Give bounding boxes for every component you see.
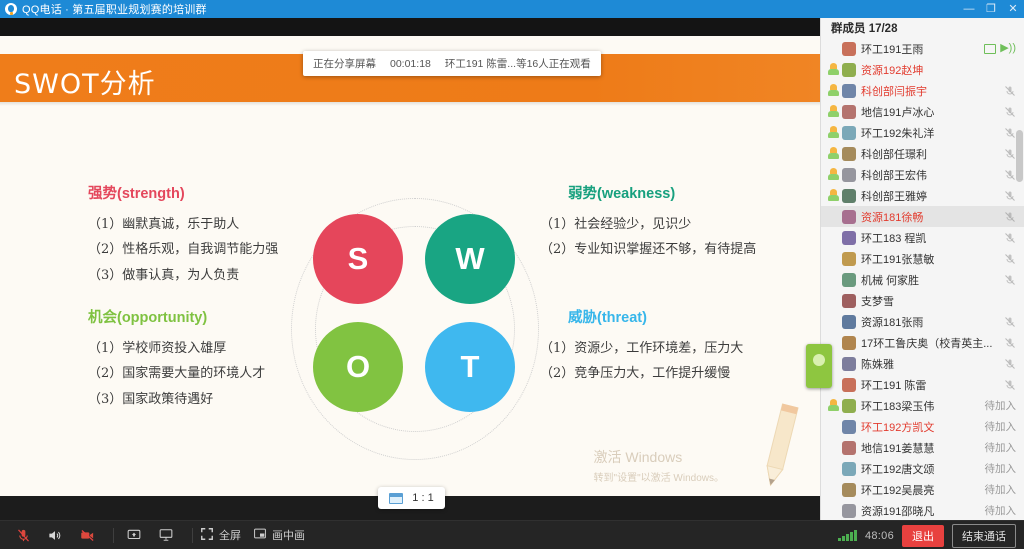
exit-button[interactable]: 退出 bbox=[902, 525, 944, 547]
member-row[interactable]: 支梦雪 bbox=[821, 290, 1024, 311]
member-status bbox=[1004, 227, 1016, 248]
member-status bbox=[1004, 269, 1016, 290]
watermark-line-2: 转到"设置"以激活 Windows。 bbox=[594, 469, 724, 484]
avatar bbox=[842, 126, 856, 140]
member-row[interactable]: 科创部王宏伟 bbox=[821, 164, 1024, 185]
member-row[interactable]: 环工183 程凯 bbox=[821, 227, 1024, 248]
member-status bbox=[1004, 101, 1016, 122]
screen-sharing-icon bbox=[984, 44, 996, 54]
window-title: QQ电话 · 第五届职业规划赛的培训群 bbox=[22, 1, 207, 17]
member-row[interactable]: 地信191姜慧慧待加入 bbox=[821, 437, 1024, 458]
member-status bbox=[1004, 80, 1016, 101]
member-status: 待加入 bbox=[985, 416, 1017, 437]
member-name: 资源192赵坤 bbox=[861, 62, 923, 78]
quadrant-opportunity-item-3: （3）国家政策待遇好 bbox=[88, 387, 265, 412]
member-row[interactable]: 资源181张雨 bbox=[821, 311, 1024, 332]
zoom-ratio-label: 1 : 1 bbox=[412, 492, 433, 504]
close-button[interactable]: ✕ bbox=[1002, 0, 1024, 18]
member-status: ▶)) bbox=[984, 38, 1016, 59]
member-row[interactable]: 资源181徐畅 bbox=[821, 206, 1024, 227]
share-viewers-label: 环工191 陈雷...等16人正在观看 bbox=[445, 56, 591, 71]
slide-body: S W O T 强势(strength) （1）幽默真诚，乐于助人 （2）性格乐… bbox=[0, 106, 820, 496]
windows-activation-watermark: 激活 Windows 转到"设置"以激活 Windows。 bbox=[594, 447, 724, 484]
member-badge-spacer bbox=[827, 231, 840, 244]
window-controls: — ❐ ✕ bbox=[958, 0, 1024, 18]
host-badge-icon bbox=[827, 63, 840, 76]
member-status bbox=[1004, 374, 1016, 395]
host-badge-icon bbox=[827, 399, 840, 412]
member-row[interactable]: 陈姝雅 bbox=[821, 353, 1024, 374]
swot-circle-weakness: W bbox=[425, 214, 515, 304]
member-name: 环工191张慧敏 bbox=[861, 251, 934, 267]
member-name: 机械 何家胜 bbox=[861, 272, 919, 288]
avatar bbox=[842, 357, 856, 371]
avatar bbox=[842, 483, 856, 497]
member-name: 环工192朱礼洋 bbox=[861, 125, 934, 141]
zoom-ratio-control[interactable]: 1 : 1 bbox=[378, 487, 445, 509]
call-toolbar: 全屏 画中画 48:06 退出 结束通话 bbox=[0, 520, 1024, 549]
member-name: 环工191 陈雷 bbox=[861, 377, 926, 393]
avatar bbox=[842, 42, 856, 56]
member-row[interactable]: 科创部任璟利 bbox=[821, 143, 1024, 164]
avatar bbox=[842, 189, 856, 203]
member-badge-spacer bbox=[827, 42, 840, 55]
member-badge-spacer bbox=[827, 462, 840, 475]
member-row[interactable]: 科创部王雅婷 bbox=[821, 185, 1024, 206]
microphone-muted-icon[interactable] bbox=[1004, 211, 1016, 223]
swot-circle-opportunity: O bbox=[313, 322, 403, 412]
microphone-muted-icon[interactable] bbox=[1004, 358, 1016, 370]
quadrant-opportunity-item-2: （2）国家需要大量的环境人才 bbox=[88, 361, 265, 386]
member-row[interactable]: 环工192方凯文待加入 bbox=[821, 416, 1024, 437]
avatar bbox=[842, 147, 856, 161]
member-list-scrollbar[interactable] bbox=[1016, 130, 1023, 182]
quadrant-strength-item-3: （3）做事认真，为人负责 bbox=[88, 263, 278, 288]
member-name: 资源181张雨 bbox=[861, 314, 923, 330]
member-badge-spacer bbox=[827, 420, 840, 433]
member-row[interactable]: 17环工鲁庆奥（校青英主... bbox=[821, 332, 1024, 353]
toolbar-divider-1 bbox=[113, 528, 114, 543]
share-screen-icon[interactable] bbox=[121, 524, 147, 546]
quadrant-opportunity: 机会(opportunity) （1）学校师资投入雄厚 （2）国家需要大量的环境… bbox=[88, 306, 265, 412]
microphone-muted-icon[interactable] bbox=[1004, 274, 1016, 286]
avatar bbox=[842, 252, 856, 266]
avatar bbox=[842, 84, 856, 98]
avatar bbox=[842, 273, 856, 287]
microphone-muted-icon[interactable] bbox=[1004, 253, 1016, 265]
member-name: 地信191卢冰心 bbox=[861, 104, 934, 120]
member-status bbox=[1004, 206, 1016, 227]
minimize-button[interactable]: — bbox=[958, 0, 980, 18]
member-status bbox=[1004, 122, 1016, 143]
member-name: 科创部任璟利 bbox=[861, 146, 927, 162]
watermark-line-1: 激活 Windows bbox=[594, 447, 724, 467]
avatar bbox=[842, 294, 856, 308]
member-name: 环工183 程凯 bbox=[861, 230, 926, 246]
restore-button[interactable]: ❐ bbox=[980, 0, 1002, 18]
toolbar-right-group: 48:06 退出 结束通话 bbox=[838, 521, 1016, 549]
signal-bars-icon bbox=[838, 530, 857, 541]
microphone-muted-icon[interactable] bbox=[1004, 190, 1016, 202]
avatar bbox=[842, 504, 856, 518]
microphone-muted-icon[interactable] bbox=[1004, 85, 1016, 97]
member-name: 资源181徐畅 bbox=[861, 209, 923, 225]
member-name: 地信191姜慧慧 bbox=[861, 440, 934, 456]
quadrant-threat-item-2: （2）竞争压力大，工作提升缓慢 bbox=[540, 361, 743, 386]
member-name: 科创部王雅婷 bbox=[861, 188, 927, 204]
camera-muted-icon[interactable] bbox=[74, 524, 100, 546]
quadrant-strength: 强势(strength) （1）幽默真诚，乐于助人 （2）性格乐观，自我调节能力… bbox=[88, 182, 278, 288]
microphone-muted-icon[interactable] bbox=[1004, 169, 1016, 181]
quadrant-opportunity-item-1: （1）学校师资投入雄厚 bbox=[88, 336, 265, 361]
share-elapsed-time: 00:01:18 bbox=[390, 58, 431, 70]
pip-label: 画中画 bbox=[272, 527, 305, 543]
picture-in-picture-button[interactable]: 画中画 bbox=[253, 527, 305, 543]
quadrant-strength-item-1: （1）幽默真诚，乐于助人 bbox=[88, 212, 278, 237]
stage-top-letterbox bbox=[0, 18, 820, 36]
swot-circle-threat: T bbox=[425, 322, 515, 412]
member-name: 17环工鲁庆奥（校青英主... bbox=[861, 335, 992, 351]
fullscreen-button[interactable]: 全屏 bbox=[200, 527, 241, 544]
member-name: 环工192唐文颂 bbox=[861, 461, 934, 477]
quadrant-threat-heading: 威胁(threat) bbox=[568, 306, 743, 327]
member-badge-spacer bbox=[827, 504, 840, 517]
member-status bbox=[1004, 332, 1016, 353]
member-name: 环工192方凯文 bbox=[861, 419, 934, 435]
member-name: 科创部闫振宇 bbox=[861, 83, 927, 99]
call-duration: 48:06 bbox=[865, 530, 894, 542]
avatar bbox=[842, 231, 856, 245]
member-name: 陈姝雅 bbox=[861, 356, 894, 372]
fullscreen-icon bbox=[200, 527, 214, 544]
microphone-muted-icon[interactable] bbox=[10, 524, 36, 546]
speaker-icon[interactable] bbox=[42, 524, 68, 546]
member-name: 资源191邵晓凡 bbox=[861, 503, 934, 519]
member-status: 待加入 bbox=[985, 437, 1017, 458]
pencil-icon bbox=[752, 401, 806, 493]
toolbar-divider-2 bbox=[192, 528, 193, 543]
member-status: 待加入 bbox=[985, 500, 1017, 520]
member-row[interactable]: 环工191王雨▶)) bbox=[821, 38, 1024, 59]
member-row[interactable]: 资源192赵坤 bbox=[821, 59, 1024, 80]
member-row[interactable]: 机械 何家胜 bbox=[821, 269, 1024, 290]
window-title-bar: QQ电话 · 第五届职业规划赛的培训群 — ❐ ✕ bbox=[0, 0, 1024, 18]
member-name: 环工192吴晨亮 bbox=[861, 482, 934, 498]
member-status bbox=[1004, 185, 1016, 206]
quadrant-strength-item-2: （2）性格乐观，自我调节能力强 bbox=[88, 237, 278, 262]
member-status: 待加入 bbox=[985, 395, 1017, 416]
qq-logo-icon bbox=[5, 3, 17, 15]
member-row[interactable]: 环工192吴晨亮待加入 bbox=[821, 479, 1024, 500]
member-status bbox=[1004, 164, 1016, 185]
microphone-muted-icon[interactable] bbox=[1004, 337, 1016, 349]
member-badge-spacer bbox=[827, 294, 840, 307]
end-call-button[interactable]: 结束通话 bbox=[952, 524, 1016, 548]
microphone-muted-icon[interactable] bbox=[1004, 106, 1016, 118]
avatar bbox=[842, 378, 856, 392]
member-name: 科创部王宏伟 bbox=[861, 167, 927, 183]
share-status-label: 正在分享屏幕 bbox=[313, 56, 376, 71]
microphone-muted-icon[interactable] bbox=[1004, 232, 1016, 244]
speaking-icon: ▶)) bbox=[1000, 43, 1016, 54]
swot-circle-strength: S bbox=[313, 214, 403, 304]
quadrant-threat: 威胁(threat) （1）资源少，工作环境差，压力大 （2）竞争压力大，工作提… bbox=[540, 306, 743, 387]
avatar bbox=[842, 210, 856, 224]
member-badge-spacer bbox=[827, 252, 840, 265]
member-sidebar: 群成员 17/28 环工191王雨▶))资源192赵坤科创部闫振宇地信191卢冰… bbox=[820, 18, 1024, 520]
member-row[interactable]: 科创部闫振宇 bbox=[821, 80, 1024, 101]
host-badge-icon bbox=[827, 105, 840, 118]
avatar bbox=[842, 399, 856, 413]
whiteboard-icon[interactable] bbox=[153, 524, 179, 546]
member-status: 待加入 bbox=[985, 479, 1017, 500]
avatar bbox=[842, 441, 856, 455]
presentation-slide: SWOT分析 S W O T 强势(strength) （1）幽默真诚，乐于助人… bbox=[0, 36, 820, 496]
member-row[interactable]: 环工191 陈雷 bbox=[821, 374, 1024, 395]
host-badge-icon bbox=[827, 189, 840, 202]
swot-diagram: S W O T bbox=[305, 214, 525, 444]
member-badge-spacer bbox=[827, 441, 840, 454]
quadrant-weakness-item-1: （1）社会经验少，见识少 bbox=[540, 212, 756, 237]
avatar bbox=[842, 315, 856, 329]
microphone-muted-icon[interactable] bbox=[1004, 127, 1016, 139]
member-row[interactable]: 环工192唐文颂待加入 bbox=[821, 458, 1024, 479]
screen-fit-icon bbox=[389, 493, 403, 504]
member-list[interactable]: 环工191王雨▶))资源192赵坤科创部闫振宇地信191卢冰心环工192朱礼洋科… bbox=[821, 38, 1024, 520]
host-badge-icon bbox=[827, 147, 840, 160]
self-video-thumbnail[interactable] bbox=[806, 344, 832, 388]
avatar bbox=[842, 420, 856, 434]
quadrant-weakness-heading: 弱势(weakness) bbox=[568, 182, 756, 203]
member-status bbox=[1004, 248, 1016, 269]
microphone-muted-icon[interactable] bbox=[1004, 316, 1016, 328]
member-row[interactable]: 环工192朱礼洋 bbox=[821, 122, 1024, 143]
member-status bbox=[1004, 311, 1016, 332]
member-name: 环工183梁玉伟 bbox=[861, 398, 934, 414]
member-badge-spacer bbox=[827, 210, 840, 223]
member-status: 待加入 bbox=[985, 458, 1017, 479]
member-row[interactable]: 环工183梁玉伟待加入 bbox=[821, 395, 1024, 416]
member-badge-spacer bbox=[827, 483, 840, 496]
member-status bbox=[1004, 353, 1016, 374]
avatar bbox=[842, 462, 856, 476]
fullscreen-label: 全屏 bbox=[219, 527, 241, 543]
member-row[interactable]: 资源191邵晓凡待加入 bbox=[821, 500, 1024, 520]
host-badge-icon bbox=[827, 168, 840, 181]
member-count-header: 群成员 17/28 bbox=[821, 18, 1024, 38]
avatar bbox=[842, 168, 856, 182]
avatar bbox=[842, 336, 856, 350]
member-name: 支梦雪 bbox=[861, 293, 894, 309]
member-row[interactable]: 环工191张慧敏 bbox=[821, 248, 1024, 269]
member-badge-spacer bbox=[827, 273, 840, 286]
microphone-muted-icon[interactable] bbox=[1004, 379, 1016, 391]
avatar bbox=[842, 105, 856, 119]
member-badge-spacer bbox=[827, 315, 840, 328]
member-status bbox=[1004, 143, 1016, 164]
screen-share-status-bar: 正在分享屏幕 00:01:18 环工191 陈雷...等16人正在观看 bbox=[303, 51, 601, 76]
quadrant-weakness-item-2: （2）专业知识掌握还不够，有待提高 bbox=[540, 237, 756, 262]
quadrant-threat-item-1: （1）资源少，工作环境差，压力大 bbox=[540, 336, 743, 361]
quadrant-opportunity-heading: 机会(opportunity) bbox=[88, 306, 265, 327]
microphone-muted-icon[interactable] bbox=[1004, 148, 1016, 160]
quadrant-strength-heading: 强势(strength) bbox=[88, 182, 278, 203]
slide-title: SWOT分析 bbox=[14, 62, 156, 101]
shared-screen-stage[interactable]: SWOT分析 S W O T 强势(strength) （1）幽默真诚，乐于助人… bbox=[0, 18, 820, 520]
member-name: 环工191王雨 bbox=[861, 41, 923, 57]
host-badge-icon bbox=[827, 84, 840, 97]
picture-in-picture-icon bbox=[253, 527, 267, 543]
member-row[interactable]: 地信191卢冰心 bbox=[821, 101, 1024, 122]
quadrant-weakness: 弱势(weakness) （1）社会经验少，见识少 （2）专业知识掌握还不够，有… bbox=[540, 182, 756, 263]
host-badge-icon bbox=[827, 126, 840, 139]
avatar bbox=[842, 63, 856, 77]
